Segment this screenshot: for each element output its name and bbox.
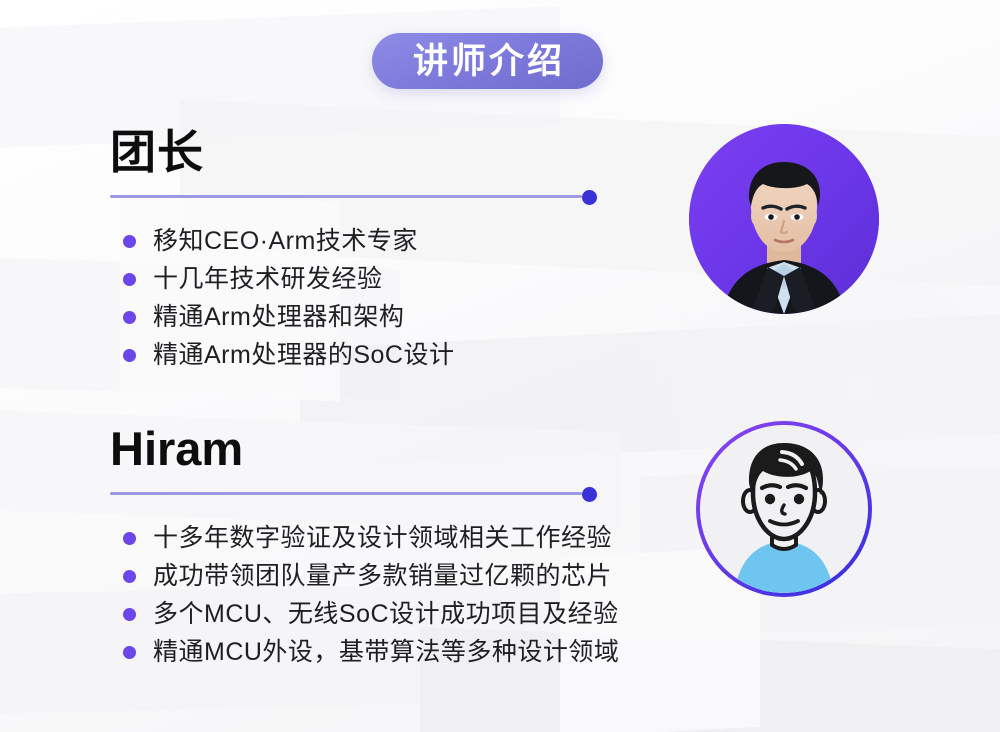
list-item-label: 精通Arm处理器和架构 — [153, 305, 404, 330]
portrait-photo-icon — [689, 124, 879, 314]
cartoon-avatar-icon — [700, 425, 868, 593]
bullet-dot-icon — [123, 532, 136, 545]
avatar-hiram — [696, 421, 872, 597]
avatar-hiram-inner — [700, 425, 868, 593]
profile-name-2: Hiram — [110, 424, 619, 473]
divider-end-dot-icon — [582, 190, 597, 205]
profile-block-1: 团长 移知CEO·Arm技术专家 十几年技术研发经验 精通Arm处理器和架构 精… — [110, 128, 454, 374]
divider-line — [110, 492, 582, 495]
profile-name-1: 团长 — [110, 128, 454, 176]
list-item: 成功带领团队量产多款销量过亿颗的芯片 — [110, 557, 619, 595]
bullet-dot-icon — [123, 273, 136, 286]
list-item-label: 多个MCU、无线SoC设计成功项目及经验 — [153, 602, 619, 627]
list-item: 移知CEO·Arm技术专家 — [110, 222, 454, 260]
profile-points-1: 移知CEO·Arm技术专家 十几年技术研发经验 精通Arm处理器和架构 精通Ar… — [110, 222, 454, 374]
list-item-label: 十多年数字验证及设计领域相关工作经验 — [153, 526, 612, 551]
list-item-label: 十几年技术研发经验 — [153, 267, 383, 292]
bullet-dot-icon — [123, 646, 136, 659]
list-item: 精通MCU外设，基带算法等多种设计领域 — [110, 633, 619, 671]
list-item: 十几年技术研发经验 — [110, 260, 454, 298]
section-title-text: 讲师介绍 — [410, 44, 565, 79]
list-item-label: 移知CEO·Arm技术专家 — [153, 229, 418, 254]
profile-points-2: 十多年数字验证及设计领域相关工作经验 成功带领团队量产多款销量过亿颗的芯片 多个… — [110, 519, 619, 671]
profile-divider-2 — [110, 487, 619, 501]
avatar-tuanzhang — [689, 124, 879, 314]
list-item-label: 成功带领团队量产多款销量过亿颗的芯片 — [153, 564, 612, 589]
bullet-dot-icon — [123, 570, 136, 583]
profile-block-2: Hiram 十多年数字验证及设计领域相关工作经验 成功带领团队量产多款销量过亿颗… — [110, 424, 619, 671]
divider-line — [110, 195, 582, 198]
bullet-dot-icon — [123, 235, 136, 248]
list-item: 精通Arm处理器和架构 — [110, 298, 454, 336]
instructor-intro-poster: 讲师介绍 团长 移知CEO·Arm技术专家 十几年技术研发经验 精通Arm处理器… — [0, 0, 1000, 732]
profile-divider-1 — [110, 190, 454, 204]
list-item-label: 精通MCU外设，基带算法等多种设计领域 — [153, 640, 619, 665]
divider-end-dot-icon — [582, 487, 597, 502]
list-item: 精通Arm处理器的SoC设计 — [110, 336, 454, 374]
list-item: 十多年数字验证及设计领域相关工作经验 — [110, 519, 619, 557]
bullet-dot-icon — [123, 349, 136, 362]
section-title-badge: 讲师介绍 — [372, 33, 603, 89]
bullet-dot-icon — [123, 608, 136, 621]
list-item: 多个MCU、无线SoC设计成功项目及经验 — [110, 595, 619, 633]
list-item-label: 精通Arm处理器的SoC设计 — [153, 343, 454, 368]
bullet-dot-icon — [123, 311, 136, 324]
